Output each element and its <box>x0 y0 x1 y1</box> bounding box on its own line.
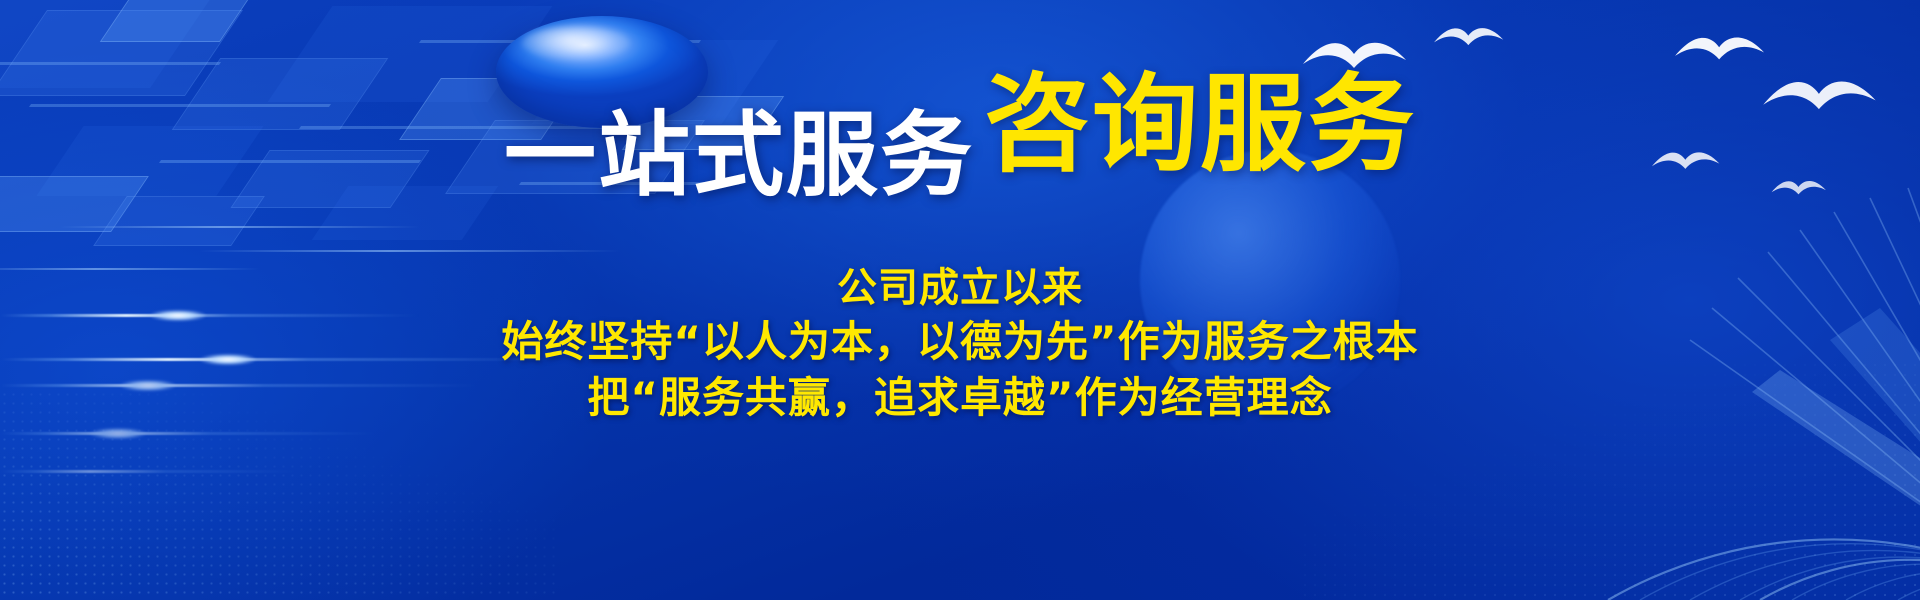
headline-yellow-text: 咨询服务 <box>984 63 1416 186</box>
body-text-group: 公司成立以来 始终坚持“以人为本，以德为先”作为服务之根本 把“服务共赢，追求卓… <box>0 262 1920 426</box>
body-line-1: 公司成立以来 <box>0 262 1920 314</box>
body-line-3: 把“服务共赢，追求卓越”作为经营理念 <box>0 370 1920 426</box>
promo-banner: 一站式服务咨询服务 公司成立以来 始终坚持“以人为本，以德为先”作为服务之根本 … <box>0 0 1920 600</box>
body-line-2: 始终坚持“以人为本，以德为先”作为服务之根本 <box>0 314 1920 370</box>
headline-group: 一站式服务咨询服务 <box>0 72 1920 178</box>
banner-content: 一站式服务咨询服务 公司成立以来 始终坚持“以人为本，以德为先”作为服务之根本 … <box>0 0 1920 600</box>
headline-white-text: 一站式服务 <box>504 102 974 209</box>
